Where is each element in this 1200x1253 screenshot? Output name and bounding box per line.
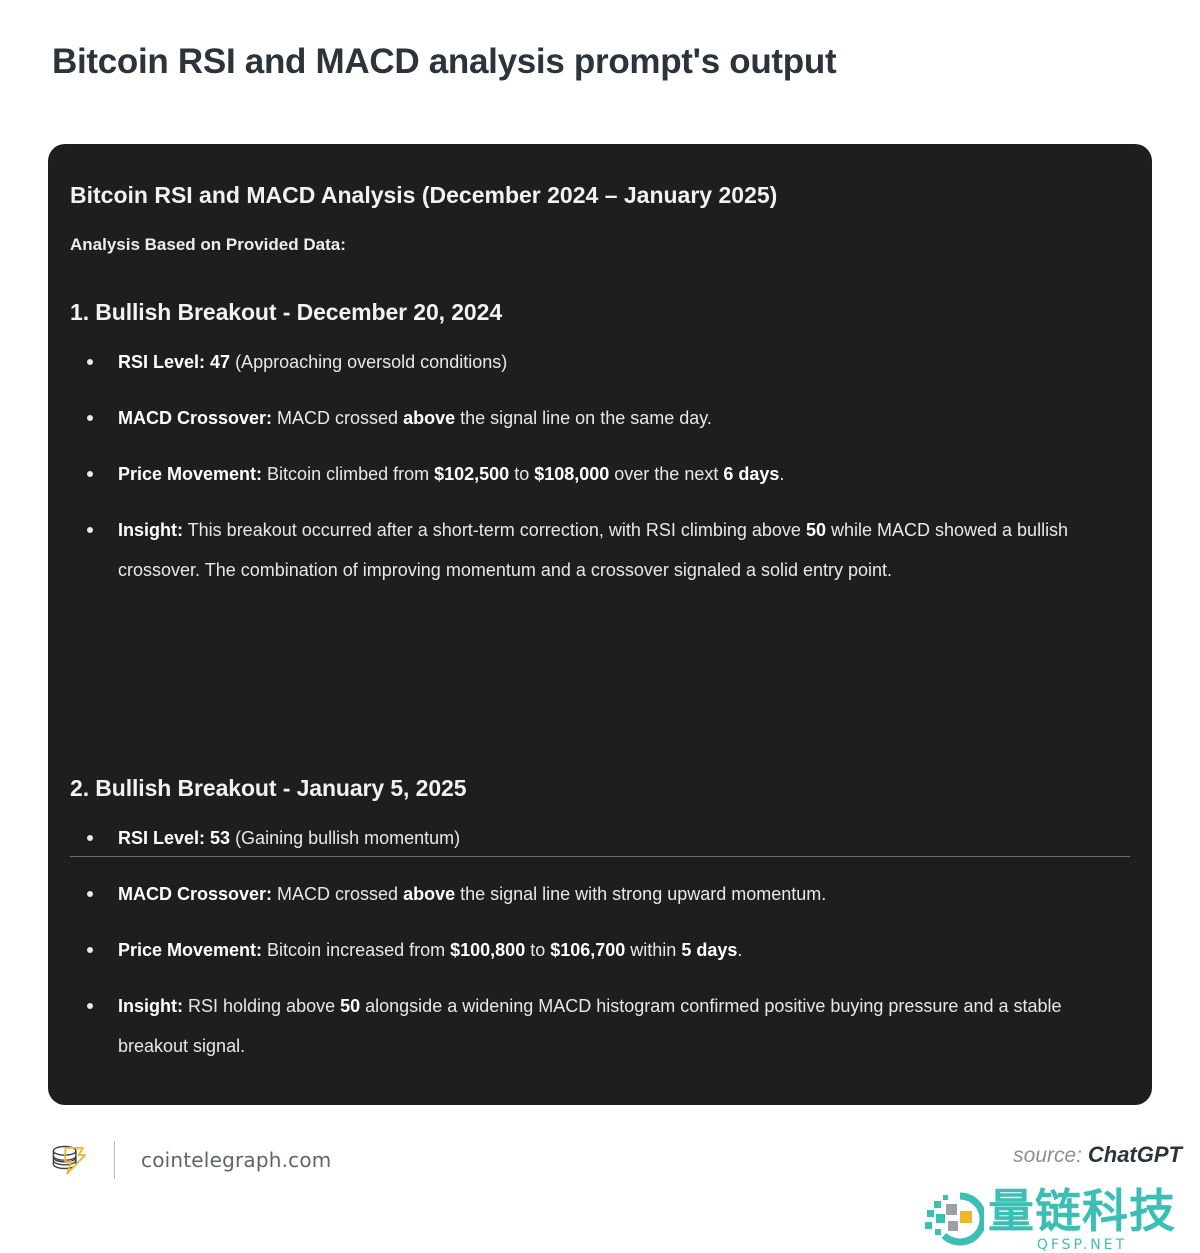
price-to: $108,000 [534,464,609,484]
list-item: Insight: RSI holding above 50 alongside … [70,986,1130,1066]
bullet-text-3: within [625,940,681,960]
bullet-label: Price Movement: [118,940,262,960]
bullet-label: RSI Level: 47 [118,352,230,372]
watermark-name: 量链科技 [988,1188,1176,1234]
bullet-label: Insight: [118,520,183,540]
section-heading: 2. Bullish Breakout - January 5, 2025 [70,775,1130,802]
bullet-dot-icon [87,415,93,421]
footer-brand: cointelegraph.com [48,1140,332,1180]
bullet-list: RSI Level: 53 (Gaining bullish momentum)… [70,818,1130,1066]
footer-divider [114,1141,115,1179]
list-item: RSI Level: 47 (Approaching oversold cond… [70,342,1130,382]
source-attribution: source: ChatGPT [1013,1142,1182,1168]
bullet-text: MACD crossed [272,408,403,428]
bullet-emphasis: 50 [806,520,826,540]
bullet-text-2: to [525,940,550,960]
bullet-text: Bitcoin increased from [262,940,450,960]
card-title: Bitcoin RSI and MACD Analysis (December … [70,182,777,209]
bullet-text-3: over the next [609,464,723,484]
source-prefix-label: source: [1013,1144,1082,1167]
footer-site-url[interactable]: cointelegraph.com [141,1148,332,1172]
price-from: $102,500 [434,464,509,484]
price-from: $100,800 [450,940,525,960]
bullet-emphasis: above [403,884,455,904]
cointelegraph-coin-bolt-icon [48,1140,88,1180]
bullet-text: RSI holding above [183,996,340,1016]
source-brand-name: ChatGPT [1088,1142,1182,1167]
footer-source: source: ChatGPT 量链科技 QFSP.NET [1013,1142,1182,1168]
bullet-text: Bitcoin climbed from [262,464,434,484]
footer: cointelegraph.com source: ChatGPT 量链科 [0,1128,1200,1238]
card-content: Bitcoin RSI and MACD Analysis (December … [70,144,1130,1105]
list-item: Insight: This breakout occurred after a … [70,510,1130,590]
section-heading: 1. Bullish Breakout - December 20, 2024 [70,299,1130,326]
bullet-dot-icon [87,1003,93,1009]
watermark-url: QFSP.NET [988,1237,1176,1253]
list-item: RSI Level: 53 (Gaining bullish momentum) [70,818,1130,858]
analysis-card: Bitcoin RSI and MACD Analysis (December … [48,144,1152,1105]
bullet-text-4: . [737,940,742,960]
bullet-label: MACD Crossover: [118,884,272,904]
bullet-text: MACD crossed [272,884,403,904]
bullet-emphasis: above [403,408,455,428]
list-item: MACD Crossover: MACD crossed above the s… [70,874,1130,914]
section-bullish-breakout-2: 2. Bullish Breakout - January 5, 2025 RS… [70,775,1130,1066]
watermark: 量链科技 QFSP.NET [922,1188,1176,1253]
bullet-emphasis: 50 [340,996,360,1016]
watermark-text: 量链科技 QFSP.NET [988,1188,1176,1253]
page-title: Bitcoin RSI and MACD analysis prompt's o… [52,42,836,82]
bullet-text: (Approaching oversold conditions) [230,352,507,372]
bullet-dot-icon [87,835,93,841]
bullet-label: Insight: [118,996,183,1016]
bullet-dot-icon [87,891,93,897]
bullet-text: (Gaining bullish momentum) [230,828,460,848]
bullet-list: RSI Level: 47 (Approaching oversold cond… [70,342,1130,590]
list-item: MACD Crossover: MACD crossed above the s… [70,398,1130,438]
qfsp-pixel-arc-icon [922,1190,984,1248]
card-subtitle: Analysis Based on Provided Data: [70,235,346,255]
bullet-label: Price Movement: [118,464,262,484]
bullet-dot-icon [87,947,93,953]
bullet-text: This breakout occurred after a short-ter… [183,520,806,540]
bullet-text-2: to [509,464,534,484]
bullet-label: RSI Level: 53 [118,828,230,848]
bullet-text-4: . [779,464,784,484]
section-bullish-breakout-1: 1. Bullish Breakout - December 20, 2024 … [70,299,1130,590]
bullet-dot-icon [87,527,93,533]
price-to: $106,700 [550,940,625,960]
list-item: Price Movement: Bitcoin climbed from $10… [70,454,1130,494]
bullet-dot-icon [87,471,93,477]
bullet-label: MACD Crossover: [118,408,272,428]
list-item: Price Movement: Bitcoin increased from $… [70,930,1130,970]
bullet-dot-icon [87,359,93,365]
bullet-text-2: the signal line on the same day. [455,408,712,428]
bullet-text-2: the signal line with strong upward momen… [455,884,826,904]
duration: 5 days [681,940,737,960]
duration: 6 days [723,464,779,484]
